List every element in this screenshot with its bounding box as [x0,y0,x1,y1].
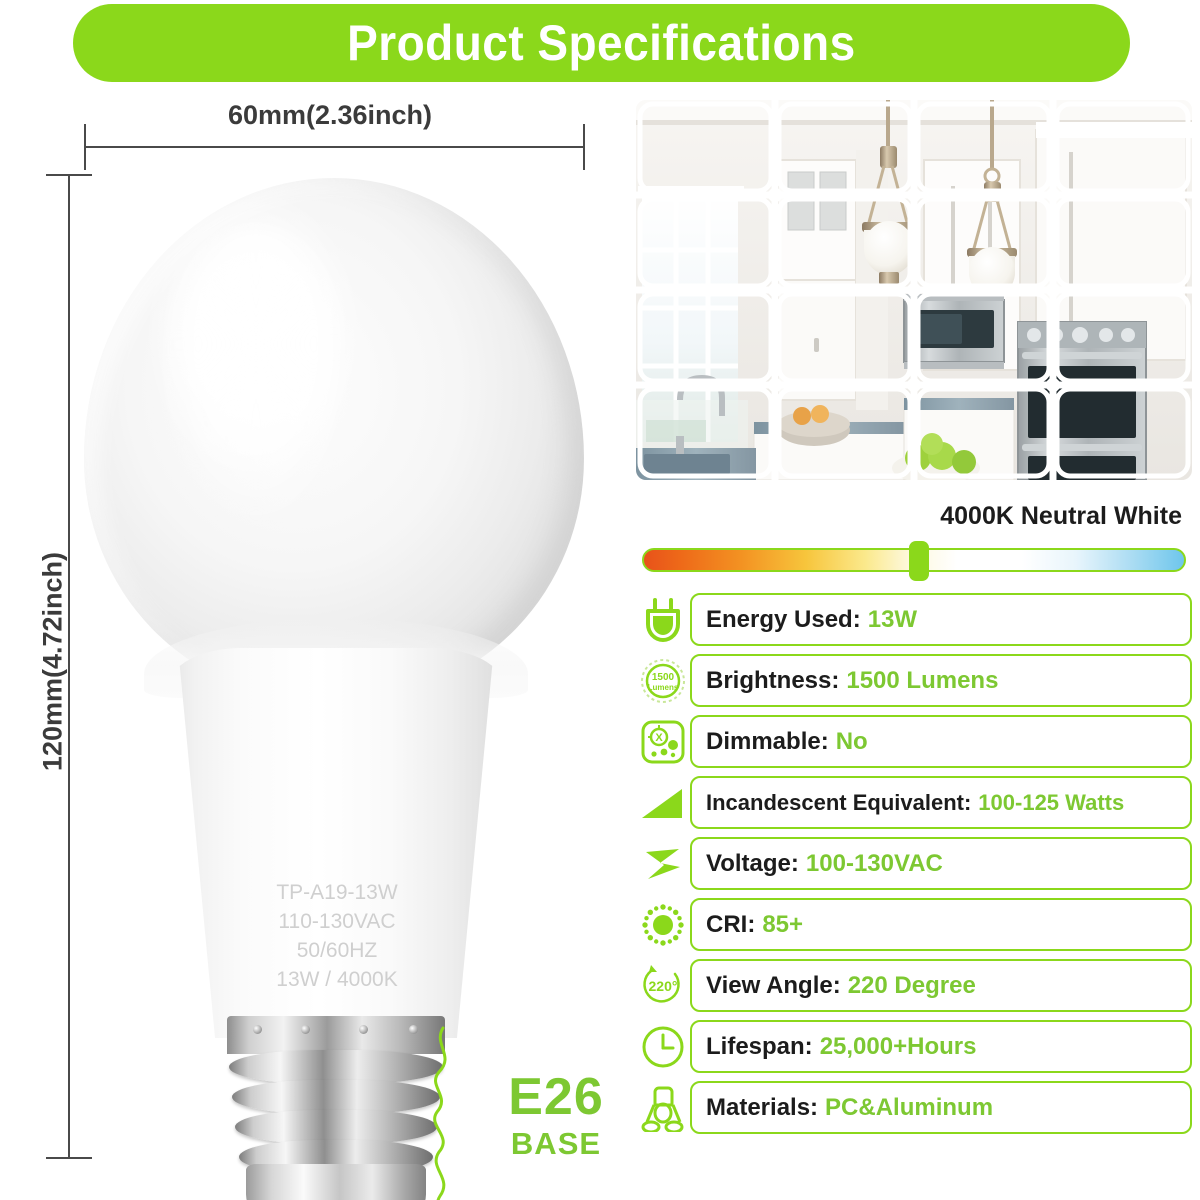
bulb-highlight [156,224,356,524]
spec-row-cri: CRI: 85+ [636,898,1192,951]
product-specifications-page: Product Specifications 60mm(2.36inch) 12… [0,0,1200,1200]
spec-label: View Angle: [706,972,841,1000]
ramp-chart-icon [636,778,690,828]
bulb-print-line-2: 110-130VAC [192,907,482,936]
width-dimension-cap-left [84,124,86,170]
spec-value: 220 Degree [848,972,976,1000]
spec-box: Incandescent Equivalent: 100-125 Watts [690,776,1192,829]
base-callout-wave-icon [425,1026,465,1200]
spec-label: Energy Used: [706,606,861,634]
spec-value: 100-125 Watts [978,790,1124,816]
kitchen-photo [636,100,1192,480]
spec-value: 100-130VAC [806,850,943,878]
bulb-base-cone [246,1164,426,1200]
spec-value: No [836,728,868,756]
materials-icon [636,1083,690,1133]
spec-value: 85+ [762,911,803,939]
spec-row-voltage: Voltage: 100-130VAC [636,837,1192,890]
height-dimension-cap-top [46,174,92,176]
spec-box: Lifespan: 25,000+Hours [690,1020,1192,1073]
spec-label: Voltage: [706,850,799,878]
spec-row-view-angle: 220° View Angle: 220 Degree [636,959,1192,1012]
spec-box: Brightness: 1500 Lumens [690,654,1192,707]
specifications-panel: 4000K Neutral White Energy Used: 13W [636,100,1192,1142]
svg-text:Lumens: Lumens [648,683,679,692]
bulb-print-line-1: TP-A19-13W [192,878,482,907]
bulb-print-line-4: 13W / 4000K [192,965,482,994]
width-dimension-label: 60mm(2.36inch) [150,100,510,131]
base-callout: E26 BASE [476,1071,636,1159]
spec-list: Energy Used: 13W 1500 Lumens Brightness:… [636,593,1192,1134]
bulb-diagram-panel: 60mm(2.36inch) 120mm(4.72inch) TP-A19-13… [0,86,620,1200]
angle-220-icon: 220° [636,961,690,1011]
spec-box: CRI: 85+ [690,898,1192,951]
kitchen-photo-art [636,100,1192,480]
base-callout-title: E26 [476,1071,636,1123]
spec-row-materials: Materials: PC&Aluminum [636,1081,1192,1134]
spec-label: Brightness: [706,667,839,695]
spec-row-energy-used: Energy Used: 13W [636,593,1192,646]
spec-label: Incandescent Equivalent: [706,790,971,816]
base-callout-subtitle: BASE [476,1128,636,1159]
page-title: Product Specifications [347,14,856,72]
svg-text:X: X [655,732,663,744]
width-dimension-line [85,146,585,148]
spec-box: Voltage: 100-130VAC [690,837,1192,890]
bulb-base-thread [235,1110,437,1144]
spec-label: Lifespan: [706,1033,813,1061]
spec-box: Dimmable: No [690,715,1192,768]
spec-value: PC&Aluminum [825,1094,993,1122]
header-banner: Product Specifications [73,4,1130,82]
svg-text:1500: 1500 [652,672,675,683]
spec-box: View Angle: 220 Degree [690,959,1192,1012]
spec-box: Energy Used: 13W [690,593,1192,646]
color-temperature-title: 4000K Neutral White [636,502,1192,531]
dimmer-off-icon: X [636,717,690,767]
sun-icon [636,900,690,950]
plug-icon [636,595,690,645]
bulb-print-text: TP-A19-13W 110-130VAC 50/60HZ 13W / 4000… [192,878,482,994]
spec-value: 1500 Lumens [846,667,998,695]
width-dimension-cap-right [583,124,585,170]
clock-icon [636,1022,690,1072]
lightning-bolt-icon [636,839,690,889]
height-dimension-label: 120mm(4.72inch) [38,402,69,922]
bulb-base-thread [232,1080,440,1114]
bulb-base-thread [229,1050,443,1084]
spec-box: Materials: PC&Aluminum [690,1081,1192,1134]
led-bulb-image: TP-A19-13W 110-130VAC 50/60HZ 13W / 4000… [84,178,584,1158]
spec-row-lifespan: Lifespan: 25,000+Hours [636,1020,1192,1073]
spec-row-brightness: 1500 Lumens Brightness: 1500 Lumens [636,654,1192,707]
spec-row-dimmable: X Dimmable: No [636,715,1192,768]
bulb-base-collar [227,1016,445,1054]
spec-label: Dimmable: [706,728,829,756]
spec-row-incandescent-equivalent: Incandescent Equivalent: 100-125 Watts [636,776,1192,829]
spec-label: CRI: [706,911,755,939]
svg-text:220°: 220° [649,978,678,994]
color-temperature-thumb[interactable] [909,541,929,581]
bulb-print-line-3: 50/60HZ [192,936,482,965]
spec-value: 25,000+Hours [820,1033,977,1061]
color-temperature-slider[interactable] [636,543,1192,577]
spec-label: Materials: [706,1094,818,1122]
spec-value: 13W [868,606,917,634]
lumens-badge-icon: 1500 Lumens [636,656,690,706]
